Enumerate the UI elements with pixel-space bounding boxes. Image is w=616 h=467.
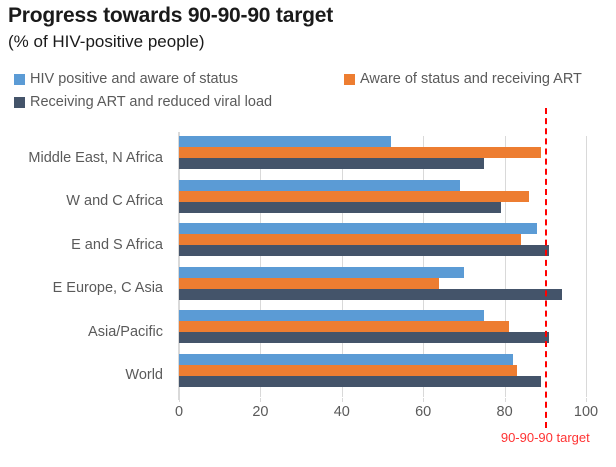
category-label: Middle East, N Africa: [0, 136, 172, 180]
bar-series-3[interactable]: [179, 202, 501, 213]
bar-series-3[interactable]: [179, 332, 549, 343]
bar-group: [179, 223, 586, 267]
bar-series-1[interactable]: [179, 354, 513, 365]
legend-swatch-series-3: [14, 97, 25, 108]
category-label: W and C Africa: [0, 180, 172, 224]
bar-series-3[interactable]: [179, 245, 549, 256]
legend-label-series-2: Aware of status and receiving ART: [360, 72, 582, 87]
bar-series-1[interactable]: [179, 180, 460, 191]
bar-group: [179, 180, 586, 224]
xtick-label: 0: [175, 404, 183, 420]
bar-series-3[interactable]: [179, 376, 541, 387]
xtick-mark: [179, 398, 180, 402]
xtick-label: 40: [334, 404, 350, 420]
bar-series-2[interactable]: [179, 321, 509, 332]
legend-label-series-1: HIV positive and aware of status: [30, 72, 238, 87]
chart-title: Progress towards 90-90-90 target: [8, 4, 333, 28]
chart-subtitle: (% of HIV-positive people): [8, 32, 205, 52]
xtick-label: 60: [415, 404, 431, 420]
value-axis-ticks: 020406080100: [179, 398, 586, 422]
legend-swatch-series-2: [344, 74, 355, 85]
legend-item-series-1[interactable]: HIV positive and aware of status: [14, 72, 238, 87]
bar-series-2[interactable]: [179, 147, 541, 158]
xtick-mark: [342, 398, 343, 402]
xtick-mark: [586, 398, 587, 402]
bar-series-1[interactable]: [179, 267, 464, 278]
bar-group: [179, 136, 586, 180]
category-label: E and S Africa: [0, 223, 172, 267]
category-label: E Europe, C Asia: [0, 267, 172, 311]
bar-series-2[interactable]: [179, 365, 517, 376]
xtick-mark: [423, 398, 424, 402]
gridline: [586, 136, 587, 397]
legend-swatch-series-1: [14, 74, 25, 85]
xtick-mark: [260, 398, 261, 402]
bar-series-2[interactable]: [179, 191, 529, 202]
chart-legend: HIV positive and aware of status Aware o…: [14, 72, 604, 118]
category-label: World: [0, 354, 172, 398]
bar-group: [179, 310, 586, 354]
xtick-label: 100: [574, 404, 598, 420]
legend-item-series-3[interactable]: Receiving ART and reduced viral load: [14, 95, 272, 110]
bar-series-3[interactable]: [179, 158, 484, 169]
category-label: Asia/Pacific: [0, 310, 172, 354]
bar-series-3[interactable]: [179, 289, 562, 300]
bar-series-2[interactable]: [179, 234, 521, 245]
xtick-label: 20: [252, 404, 268, 420]
xtick-label: 80: [497, 404, 513, 420]
xtick-mark: [505, 398, 506, 402]
bar-group: [179, 267, 586, 311]
target-reference-label: 90-90-90 target: [501, 430, 590, 445]
bar-series-1[interactable]: [179, 310, 484, 321]
legend-item-series-2[interactable]: Aware of status and receiving ART: [344, 72, 582, 87]
category-axis-labels: Middle East, N AfricaW and C AfricaE and…: [0, 136, 172, 397]
bar-series-2[interactable]: [179, 278, 439, 289]
legend-label-series-3: Receiving ART and reduced viral load: [30, 95, 272, 110]
bar-series-1[interactable]: [179, 223, 537, 234]
bar-series-1[interactable]: [179, 136, 391, 147]
chart-container: Progress towards 90-90-90 target (% of H…: [0, 0, 616, 467]
target-reference-line: [545, 108, 547, 428]
plot-area: [179, 136, 586, 397]
bar-group: [179, 354, 586, 398]
